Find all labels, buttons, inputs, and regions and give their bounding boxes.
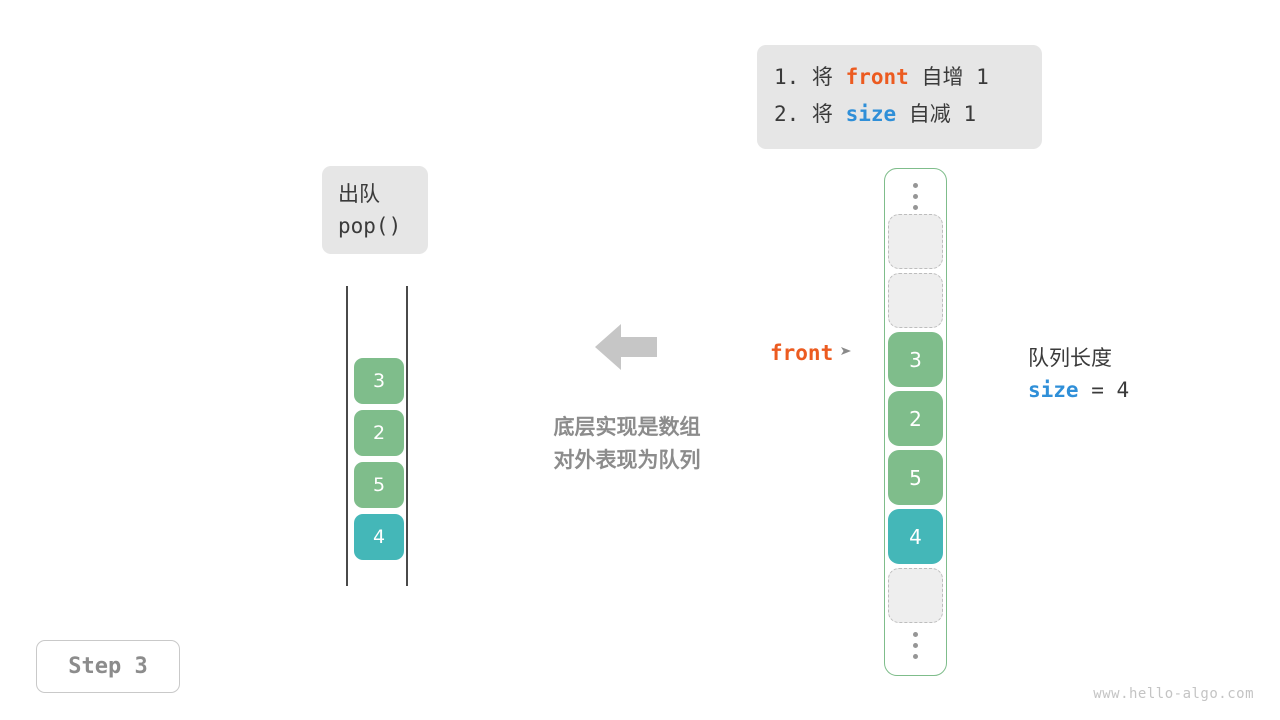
array-cell-empty — [888, 273, 943, 328]
queue-rail-right — [406, 286, 408, 586]
arrow-right-icon — [839, 344, 853, 363]
instruction-line-1-tail: 自增 1 — [909, 65, 989, 89]
instruction-line-1-prefix: 1. 将 — [774, 65, 846, 89]
operation-label-box: 出队 pop() — [322, 166, 428, 254]
size-annotation: 队列长度 size = 4 — [1028, 343, 1129, 407]
operation-function-name: pop() — [338, 210, 428, 242]
instruction-line-2-tail: 自减 1 — [896, 102, 976, 126]
instruction-line-2: 2. 将 size 自减 1 — [757, 96, 1042, 133]
queue-cell: 2 — [354, 410, 404, 456]
center-caption: 底层实现是数组 对外表现为队列 — [529, 411, 725, 477]
step-badge: Step 3 — [36, 640, 180, 693]
array-cell: 2 — [888, 391, 943, 446]
size-annotation-expression: size = 4 — [1028, 374, 1129, 407]
array-cell-empty — [888, 568, 943, 623]
size-keyword: size — [1028, 378, 1079, 402]
left-arrow-icon — [595, 322, 657, 372]
queue-cell: 5 — [354, 462, 404, 508]
array-cell: 4 — [888, 509, 943, 564]
instruction-line-1-keyword: front — [846, 65, 909, 89]
vertical-dots-icon-top — [913, 178, 919, 214]
instruction-line-2-keyword: size — [846, 102, 897, 126]
queue-cell: 4 — [354, 514, 404, 560]
center-caption-line-2: 对外表现为队列 — [529, 444, 725, 477]
size-value-expression: = 4 — [1079, 378, 1130, 402]
logical-queue-view: 3 2 5 4 — [346, 286, 408, 586]
array-cell: 3 — [888, 332, 943, 387]
instruction-box: 1. 将 front 自增 1 2. 将 size 自减 1 — [757, 45, 1042, 149]
step-badge-label: Step 3 — [68, 654, 147, 679]
array-container: 3 2 5 4 — [884, 168, 947, 676]
array-cell: 5 — [888, 450, 943, 505]
front-pointer-label: front — [770, 341, 833, 365]
instruction-line-1: 1. 将 front 自增 1 — [757, 59, 1042, 96]
instruction-line-2-prefix: 2. 将 — [774, 102, 846, 126]
operation-title: 出队 — [338, 178, 428, 210]
center-caption-line-1: 底层实现是数组 — [529, 411, 725, 444]
queue-cell: 3 — [354, 358, 404, 404]
queue-rail-left — [346, 286, 348, 586]
size-annotation-title: 队列长度 — [1028, 343, 1129, 374]
vertical-dots-icon-bottom — [913, 627, 919, 663]
array-cell-empty — [888, 214, 943, 269]
front-pointer: front — [770, 341, 853, 365]
watermark: www.hello-algo.com — [1093, 686, 1254, 702]
queue-cell-stack: 3 2 5 4 — [354, 358, 404, 566]
